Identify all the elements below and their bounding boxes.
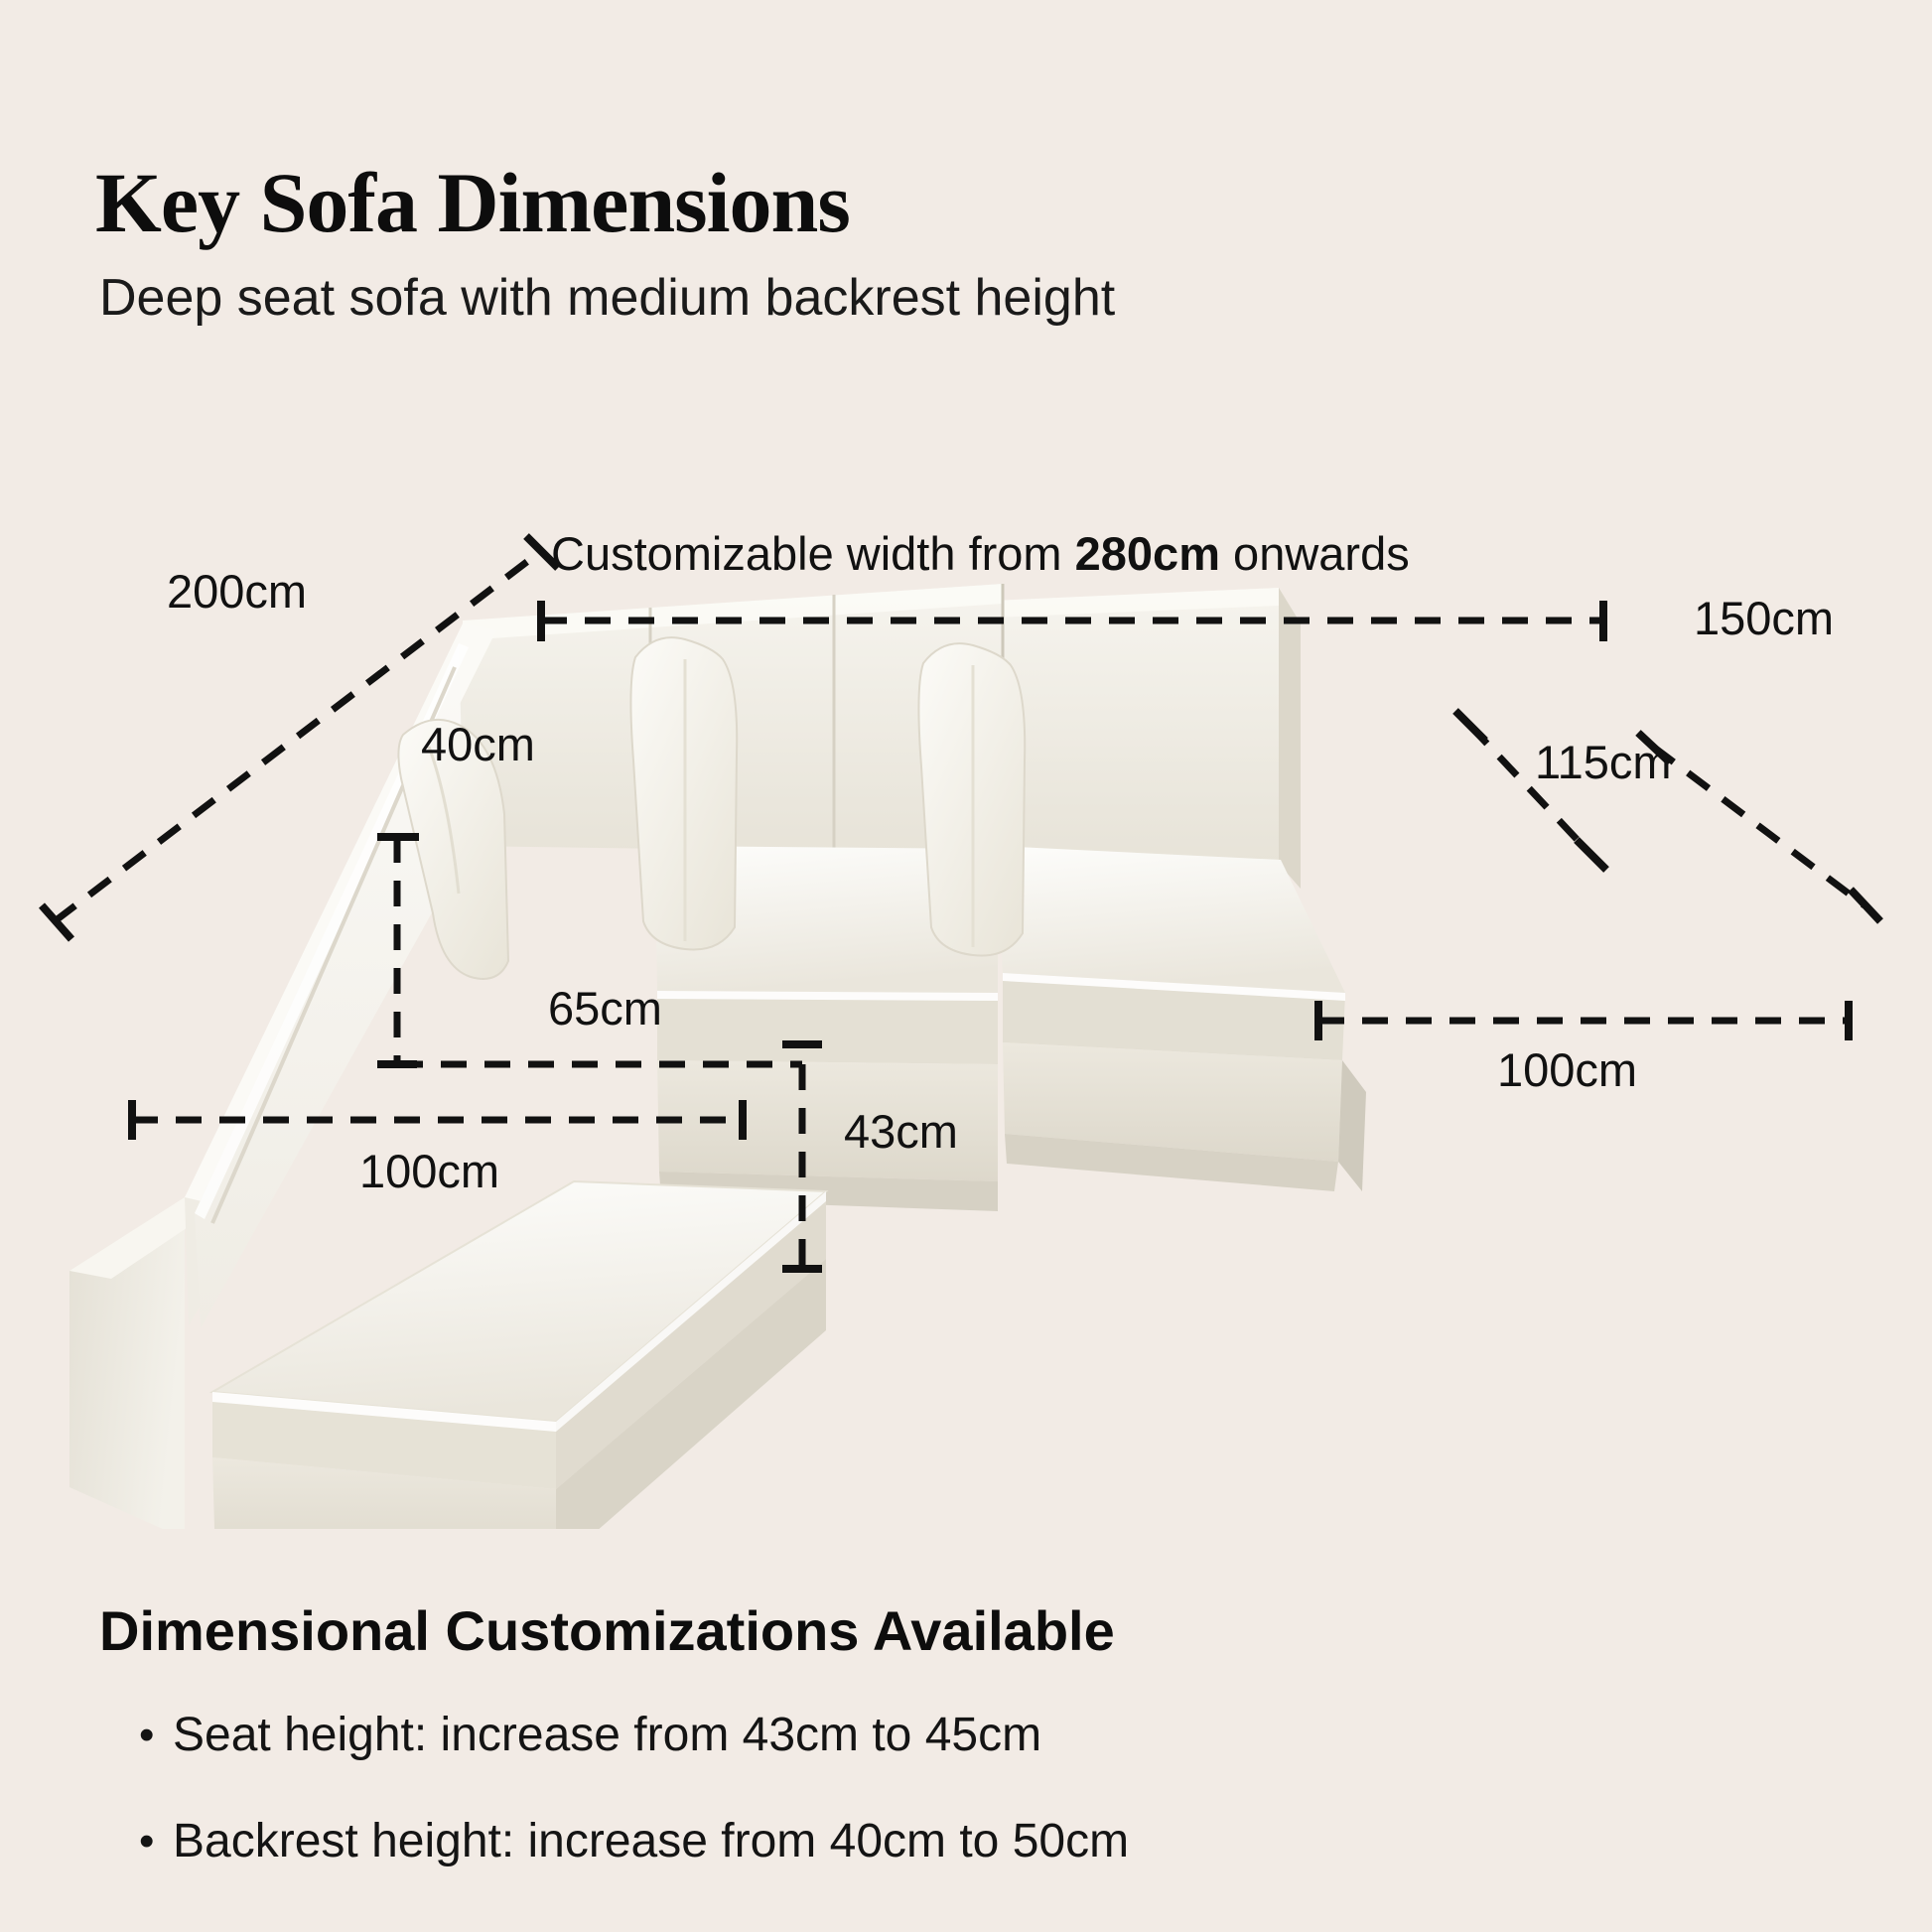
page-subtitle: Deep seat sofa with medium backrest heig… xyxy=(99,268,1115,328)
dimension-label-seat-depth: 65cm xyxy=(548,981,662,1035)
dimension-label-depth-right: 150cm xyxy=(1694,591,1834,645)
list-item: • Backrest height: increase from 40cm to… xyxy=(139,1814,1129,1868)
sofa-diagram: 200cm 150cm 40cm 65cm 43cm 115cm 100cm 1… xyxy=(0,397,1932,1529)
dimline-depth-right xyxy=(1653,747,1864,905)
customizations-list: • Seat height: increase from 43cm to 45c… xyxy=(139,1708,1129,1920)
list-item: • Seat height: increase from 43cm to 45c… xyxy=(139,1708,1129,1762)
dimension-label-chaise-depth: 115cm xyxy=(1535,735,1672,789)
bullet-icon: • xyxy=(139,1820,173,1863)
customizations-heading: Dimensional Customizations Available xyxy=(99,1598,1115,1663)
dimension-label-module-width-right: 100cm xyxy=(1497,1042,1637,1097)
dimension-label-seat-height: 43cm xyxy=(844,1104,958,1159)
dimension-label-depth-left: 200cm xyxy=(167,564,307,619)
infographic-page: Key Sofa Dimensions Deep seat sofa with … xyxy=(0,0,1932,1932)
dimension-label-module-width-left: 100cm xyxy=(359,1144,499,1198)
bullet-icon: • xyxy=(139,1714,173,1757)
list-item-label: Backrest height: increase from 40cm to 5… xyxy=(173,1814,1129,1868)
page-title: Key Sofa Dimensions xyxy=(95,153,850,252)
list-item-label: Seat height: increase from 43cm to 45cm xyxy=(173,1708,1041,1762)
dimension-label-backrest-height: 40cm xyxy=(421,717,535,771)
